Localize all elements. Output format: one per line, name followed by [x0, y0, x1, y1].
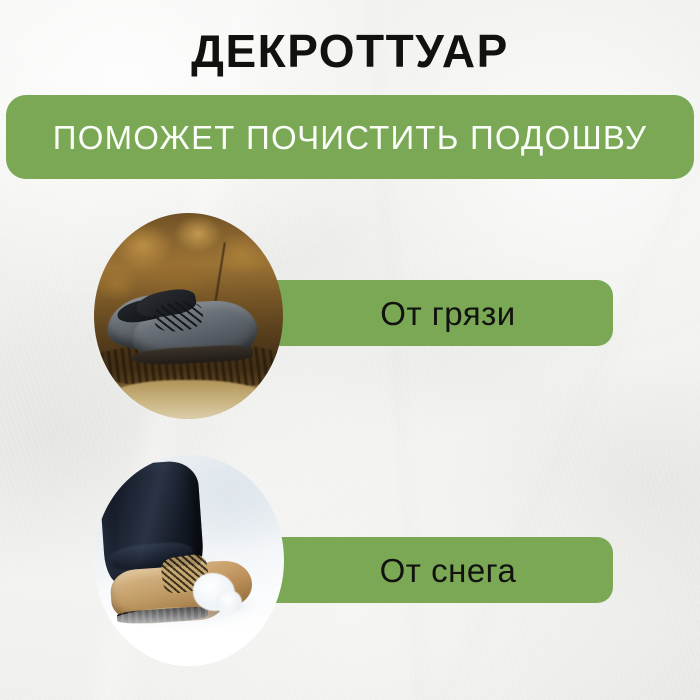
- headline-banner: ПОМОЖЕТ ПОЧИСТИТЬ ПОДОШВУ: [6, 95, 694, 179]
- ground-crack: [214, 242, 226, 303]
- muddy-shoes-photo: [94, 213, 283, 419]
- muddy-shoes-photo-bg: [94, 213, 283, 419]
- feature-label-mud: От грязи: [283, 297, 613, 330]
- headline-banner-text: ПОМОЖЕТ ПОЧИСТИТЬ ПОДОШВУ: [53, 121, 647, 154]
- page-title: ДЕКРОТТУАР: [0, 28, 700, 74]
- poster: ДЕКРОТТУАР ПОМОЖЕТ ПОЧИСТИТЬ ПОДОШВУ От …: [0, 0, 700, 700]
- snowy-boot-photo-bg: [94, 455, 284, 666]
- mud-floor: [105, 380, 271, 419]
- feature-row-mud: От грязи: [0, 213, 700, 421]
- snow-ground: [94, 607, 284, 666]
- feature-row-snow: От снега: [0, 455, 700, 667]
- feature-label-snow: От снега: [283, 554, 613, 587]
- snowy-boot-photo: [94, 455, 284, 666]
